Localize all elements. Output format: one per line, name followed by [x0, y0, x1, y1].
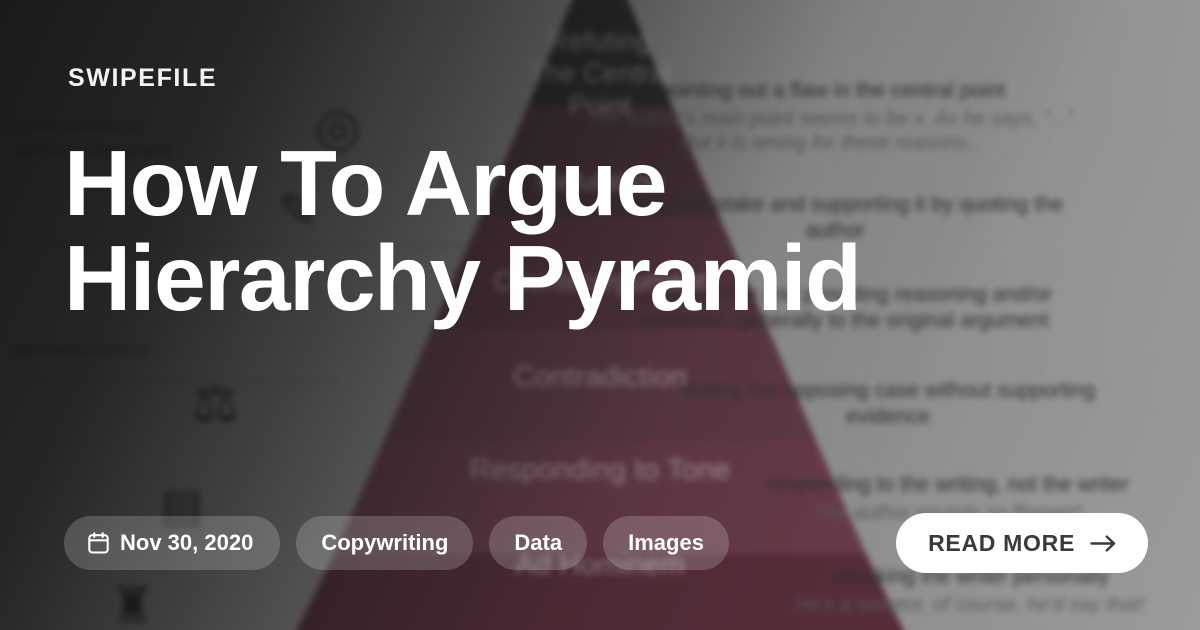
date-label: Nov 30, 2020 — [120, 530, 253, 556]
calendar-icon — [88, 532, 109, 554]
tag-label: Images — [628, 530, 704, 556]
read-more-button[interactable]: READ MORE — [896, 513, 1148, 573]
title-line-2: Hierarchy Pyramid — [64, 231, 1074, 326]
date-pill: Nov 30, 2020 — [64, 516, 280, 570]
card-content: SWIPEFILE How To Argue Hierarchy Pyramid… — [0, 0, 1200, 630]
tag-label: Data — [514, 530, 562, 556]
site-kicker: SWIPEFILE — [68, 64, 217, 93]
read-more-label: READ MORE — [928, 530, 1075, 557]
tag-pill-copywriting[interactable]: Copywriting — [296, 516, 473, 570]
share-card: Refuting The Central Point Refutation Co… — [0, 0, 1200, 630]
tag-label: Copywriting — [321, 530, 448, 556]
card-footer: Nov 30, 2020 Copywriting Data Images REA… — [64, 516, 1148, 570]
title-line-1: How To Argue — [64, 136, 1074, 231]
tag-pill-data[interactable]: Data — [489, 516, 587, 570]
arrow-right-icon — [1090, 535, 1116, 552]
page-title: How To Argue Hierarchy Pyramid — [64, 136, 1074, 326]
tag-pill-images[interactable]: Images — [603, 516, 729, 570]
